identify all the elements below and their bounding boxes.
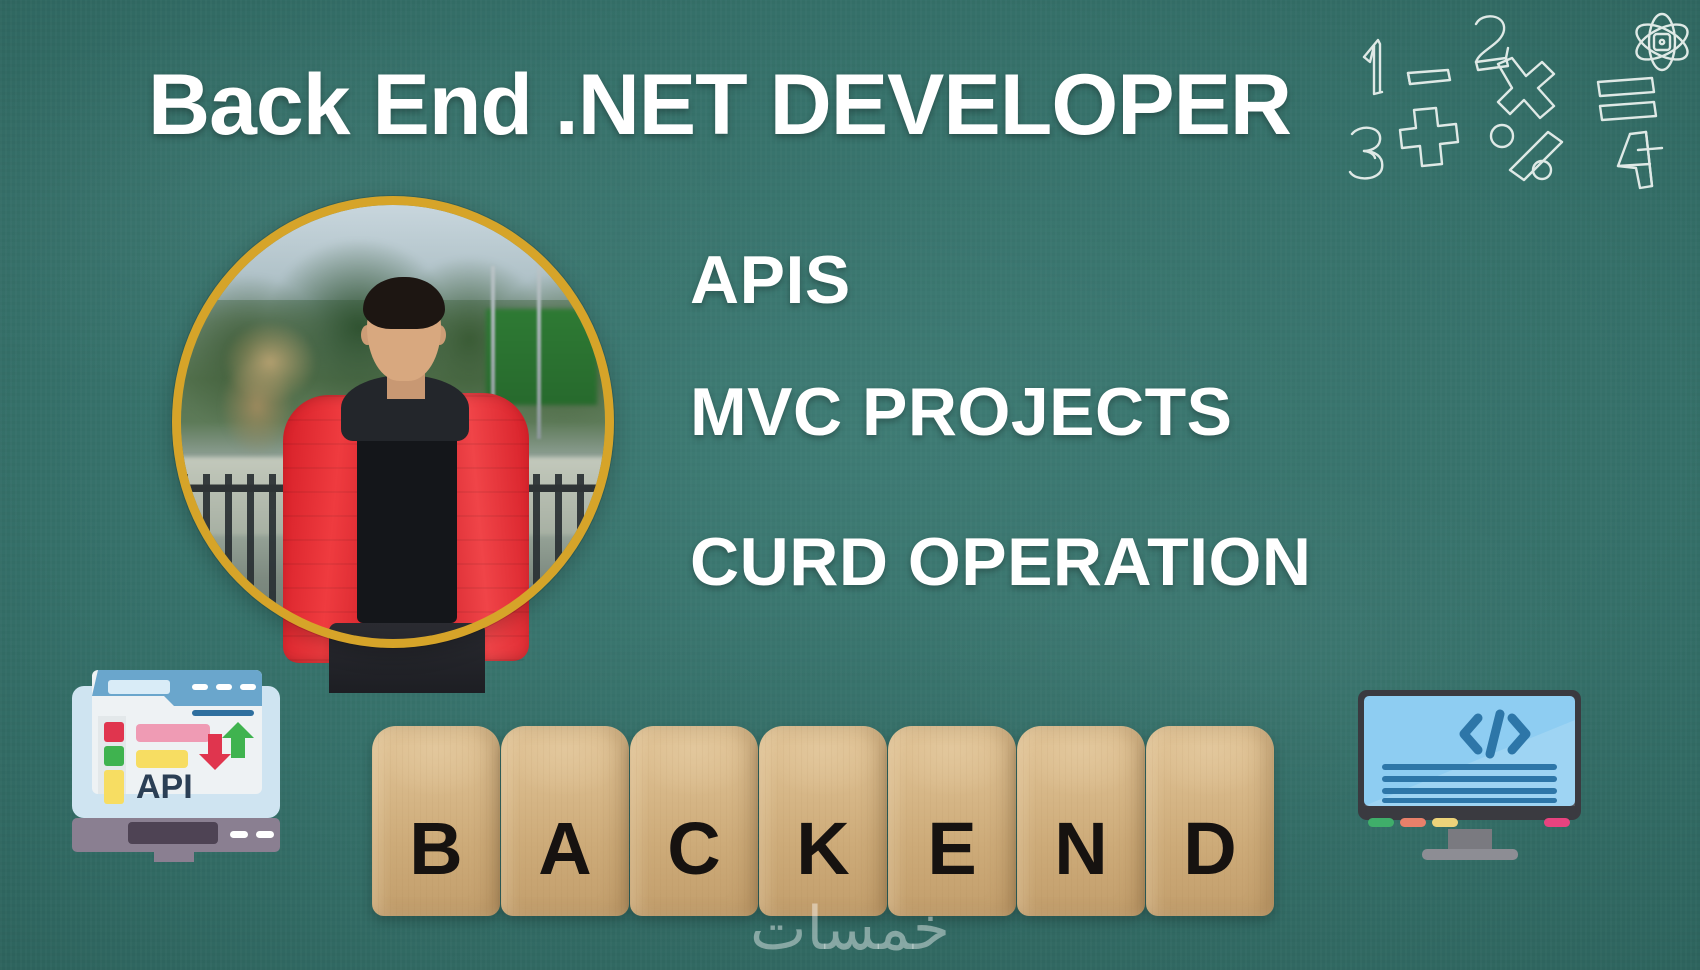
- doodle-plus: [1400, 108, 1458, 166]
- feature-item-apis: APIS: [690, 246, 851, 314]
- letter-block: E: [888, 726, 1016, 916]
- block-letter: D: [1146, 812, 1274, 886]
- doodle-atom-icon: [1631, 14, 1693, 70]
- avatar: [172, 196, 614, 648]
- block-letter: A: [501, 812, 629, 886]
- doodle-equals: [1598, 78, 1656, 120]
- feature-item-curd-operation: CURD OPERATION: [690, 528, 1312, 596]
- wooden-letter-blocks: B A C K E N D: [372, 726, 1272, 916]
- doodle-digit-1: [1364, 40, 1382, 94]
- page-title: Back End .NET DEVELOPER: [148, 62, 1291, 148]
- code-pill-green: [1368, 818, 1394, 827]
- block-letter: C: [630, 812, 758, 886]
- letter-block: C: [630, 726, 758, 916]
- api-block-red: [104, 722, 124, 742]
- letter-block: D: [1146, 726, 1274, 916]
- code-pill-pink: [1544, 818, 1570, 827]
- code-pill-yellow: [1432, 818, 1458, 827]
- block-letter: K: [759, 812, 887, 886]
- block-letter: B: [372, 812, 500, 886]
- letter-block: K: [759, 726, 887, 916]
- api-titlebar-field: [108, 680, 170, 694]
- code-monitor-stand: [1448, 829, 1492, 851]
- feature-item-mvc-projects: MVC PROJECTS: [690, 378, 1233, 446]
- api-bar-pink: [136, 724, 210, 742]
- block-letter: E: [888, 812, 1016, 886]
- letter-block: N: [1017, 726, 1145, 916]
- api-block-yellow: [104, 770, 124, 804]
- code-pill-orange: [1400, 818, 1426, 827]
- api-icon-label: API: [136, 768, 193, 806]
- doodle-digit-4: [1618, 132, 1662, 188]
- api-block-green: [104, 746, 124, 766]
- letter-block: A: [501, 726, 629, 916]
- doodle-percent: [1491, 125, 1562, 180]
- portrait-gold-ring: [172, 196, 614, 648]
- block-letter: N: [1017, 812, 1145, 886]
- doodle-digit-3: [1350, 128, 1382, 179]
- api-bar-yellow: [136, 750, 188, 768]
- code-monitor-icon: [1352, 686, 1587, 861]
- math-doodles-group: [1330, 0, 1700, 190]
- api-monitor-icon: API: [66, 632, 286, 862]
- doodle-minus: [1408, 70, 1450, 84]
- letter-block: B: [372, 726, 500, 916]
